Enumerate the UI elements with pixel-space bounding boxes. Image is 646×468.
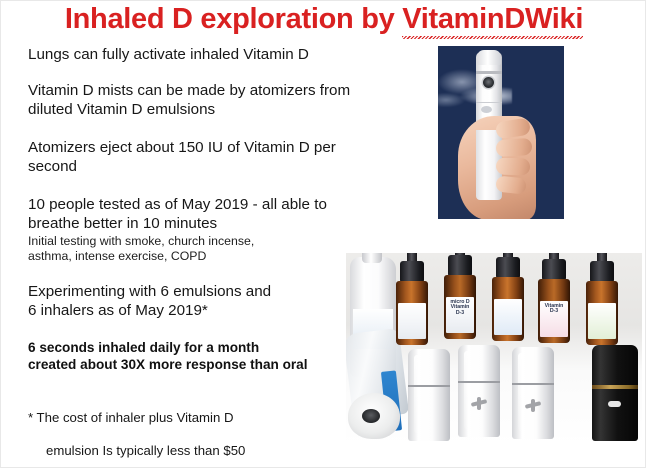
inhaler-emblem-icon	[525, 399, 541, 412]
inhaler-gold-band	[592, 385, 638, 389]
paragraph-people-tested: 10 people tested as of May 2019 - all ab…	[28, 195, 428, 233]
footnote-line-1: * The cost of inhaler plus Vitamin D	[28, 410, 234, 425]
finger	[496, 157, 531, 175]
dropper-cap	[590, 261, 614, 283]
black-inhaler	[592, 345, 638, 441]
page-title-highlight: VitaminDWiki	[402, 3, 583, 36]
bottle-label	[588, 303, 616, 339]
atomizer-top-cap	[477, 50, 501, 65]
label-strength: D-3	[540, 309, 568, 314]
bottle-label-micro-d: micro D Vitamin D-3	[446, 297, 474, 333]
dropper-cap	[496, 257, 520, 279]
atomizer-logo	[481, 106, 492, 113]
inhaler-band	[512, 383, 554, 385]
inhaler-band	[408, 385, 450, 387]
white-inhaler	[408, 349, 450, 441]
slide-canvas: Inhaled D exploration by VitaminDWiki Lu…	[0, 0, 646, 468]
finger	[495, 138, 532, 157]
footnote-line-2: emulsion Is typically less than $50	[28, 443, 245, 460]
bottle-label	[398, 303, 426, 339]
paragraph-lungs: Lungs can fully activate inhaled Vitamin…	[28, 45, 428, 64]
dropper-cap	[448, 255, 472, 277]
label-strength: D-3	[446, 311, 474, 316]
inhaler-indicator	[608, 401, 621, 407]
atomizer-nozzle-icon	[483, 77, 494, 88]
photo-atomizer	[438, 46, 564, 219]
photo-emulsions-and-inhalers: micro D Vitamin D-3 Vitamin D-3	[346, 253, 642, 444]
paragraph-atomizers: Atomizers eject about 150 IU of Vitamin …	[28, 138, 428, 176]
page-title: Inhaled D exploration by VitaminDWiki	[1, 3, 646, 36]
page-title-main: Inhaled D exploration by	[65, 3, 402, 35]
inhaler-highlight	[464, 351, 470, 429]
bottle-neck	[362, 253, 382, 263]
dropper-cap	[542, 259, 566, 281]
inhaler-band	[458, 381, 500, 383]
white-inhaler	[512, 347, 554, 439]
paragraph-mists: Vitamin D mists can be made by atomizers…	[28, 81, 428, 119]
white-inhaler	[458, 345, 500, 437]
bottle-label-vitamin-d3: Vitamin D-3	[540, 301, 568, 337]
dropper-cap	[400, 261, 424, 283]
inhaler-emblem-icon	[471, 397, 487, 410]
inhaler-highlight	[414, 355, 420, 433]
inhaler-mouthpiece-icon	[362, 409, 380, 423]
round-inhaler-cap	[348, 393, 400, 439]
atomizer-seam	[476, 102, 502, 103]
inhaler-highlight	[518, 353, 524, 431]
bottle-label	[494, 299, 522, 335]
finger	[495, 175, 527, 194]
atomizer-ring	[476, 71, 502, 74]
